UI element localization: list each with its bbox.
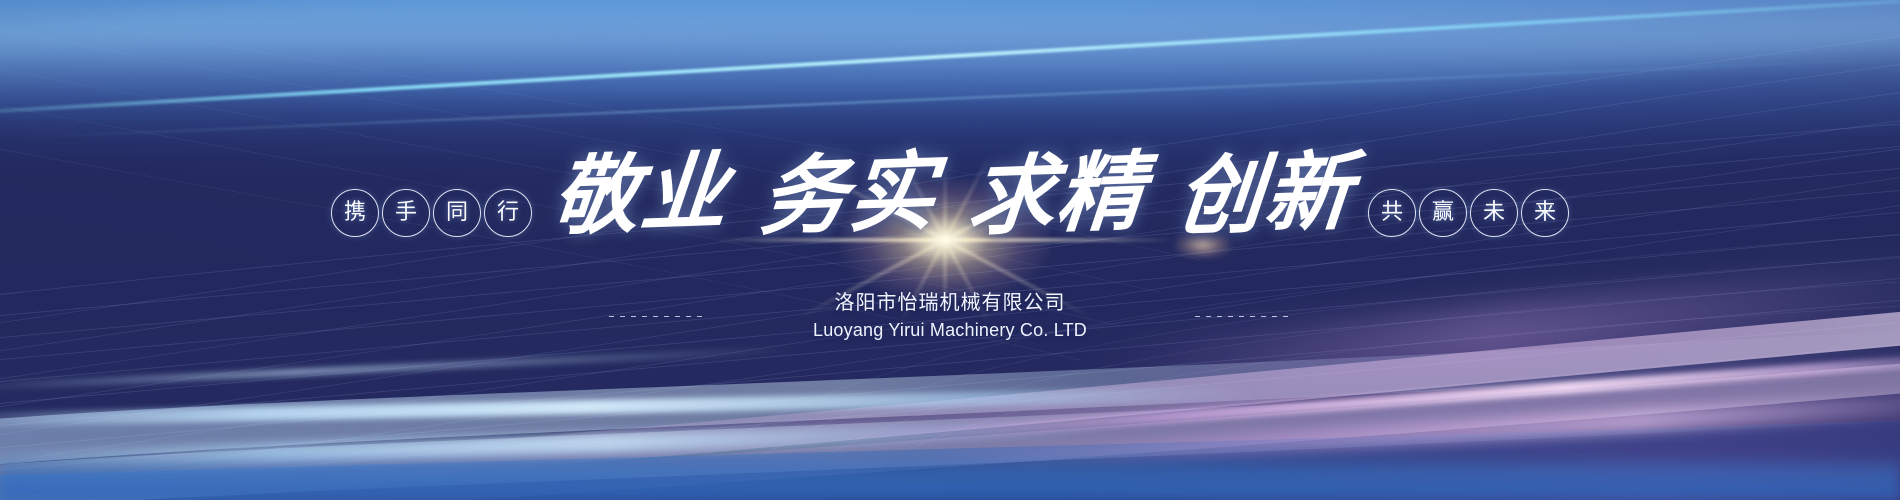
circled-char-xie: 携 [331, 189, 379, 237]
circled-slogan-left: 携 手 同 行 [331, 189, 532, 237]
company-block: 洛阳市怡瑞机械有限公司 Luoyang Yirui Machinery Co. … [0, 288, 1900, 344]
circled-char-wei: 未 [1470, 189, 1518, 237]
slogan-row: 携 手 同 行 敬业 务实 求精 创新 共 赢 未 来 [0, 140, 1900, 250]
banner-content: 携 手 同 行 敬业 务实 求精 创新 共 赢 未 来 洛阳市怡瑞机械有限公司 [0, 0, 1900, 500]
promo-banner: 携 手 同 行 敬业 务实 求精 创新 共 赢 未 来 洛阳市怡瑞机械有限公司 [0, 0, 1900, 500]
calligraphy-word-wushi: 务实 [754, 152, 944, 237]
company-name-en: Luoyang Yirui Machinery Co. LTD [813, 317, 1087, 344]
circled-char-shou: 手 [382, 189, 430, 237]
circled-char-lai: 来 [1521, 189, 1569, 237]
circled-char-ying: 赢 [1419, 189, 1467, 237]
circled-char-tong: 同 [433, 189, 481, 237]
circled-char-gong: 共 [1368, 189, 1416, 237]
calligraphy-word-chuangxin: 创新 [1170, 152, 1360, 237]
company-name-cn: 洛阳市怡瑞机械有限公司 [813, 288, 1087, 317]
divider-dashed-left [609, 316, 705, 317]
circled-slogan-right: 共 赢 未 来 [1368, 189, 1569, 237]
company-names: 洛阳市怡瑞机械有限公司 Luoyang Yirui Machinery Co. … [813, 288, 1087, 344]
calligraphy-word-jingye: 敬业 [546, 152, 736, 237]
circled-char-xing: 行 [484, 189, 532, 237]
divider-dashed-right [1195, 316, 1291, 317]
calligraphy-slogan: 敬业 务实 求精 创新 [550, 155, 1356, 234]
calligraphy-word-qiujing: 求精 [962, 152, 1152, 237]
